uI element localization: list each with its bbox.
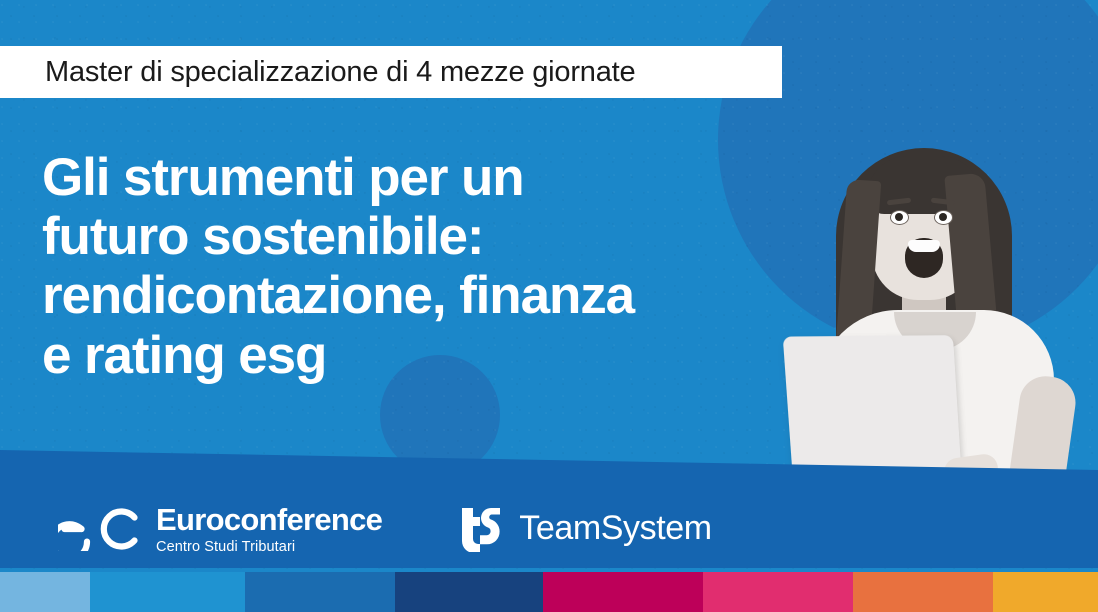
color-swatch-magenta [543,572,703,612]
color-swatch-orange [853,572,993,612]
footer-rule [0,564,1098,568]
color-swatch-navy [395,572,543,612]
headline-line-3: rendicontazione, finanza [42,266,832,325]
ec-monogram-icon [58,507,144,551]
pupil-right [939,213,947,221]
headline-line-4: e rating esg [42,326,832,385]
color-swatch-yellow [993,572,1098,612]
promo-banner: Master di specializzazione di 4 mezze gi… [0,0,1098,612]
page-title: Gli strumenti per un futuro sostenibile:… [42,148,832,385]
headline-line-1: Gli strumenti per un [42,148,832,207]
ts-monogram-icon [456,506,506,552]
color-swatch-pink [703,572,853,612]
kicker-text: Master di specializzazione di 4 mezze gi… [45,56,635,89]
logo-row: Euroconference Centro Studi Tributari Te… [58,504,712,555]
color-swatch-azure [90,572,245,612]
color-swatch-medium-blue [245,572,395,612]
teamsystem-name: TeamSystem [519,509,712,548]
teeth [908,240,940,252]
teamsystem-logo[interactable]: TeamSystem [456,506,712,552]
euroconference-logo[interactable]: Euroconference Centro Studi Tributari [58,504,382,555]
euroconference-name: Euroconference [156,504,382,535]
kicker-banner: Master di specializzazione di 4 mezze gi… [0,46,782,98]
color-swatch-light-blue [0,572,90,612]
headline-line-2: futuro sostenibile: [42,207,832,266]
euroconference-tagline: Centro Studi Tributari [156,540,382,555]
pupil-left [895,213,903,221]
color-strip [0,572,1098,612]
